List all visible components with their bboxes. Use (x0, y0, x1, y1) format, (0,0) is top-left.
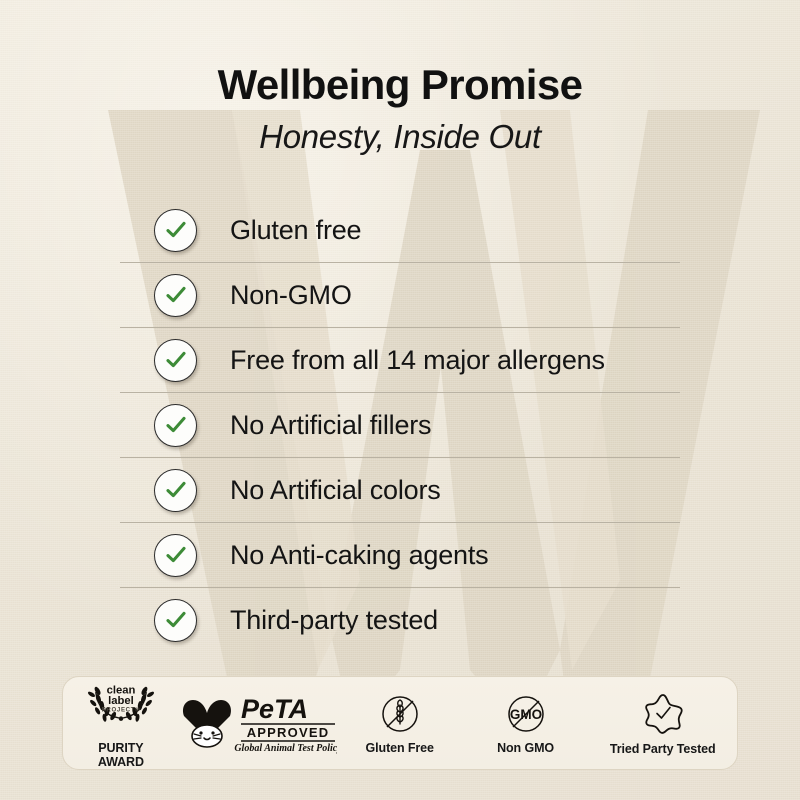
list-item-label: Non-GMO (230, 280, 352, 311)
non-gmo-caption: Non GMO (497, 741, 554, 755)
list-item-label: No Anti-caking agents (230, 540, 488, 571)
certification-badge-bar: clean label PROJECT® PURITY AWARD (62, 676, 738, 770)
page-subtitle: Honesty, Inside Out (0, 118, 800, 156)
gluten-free-caption: Gluten Free (366, 741, 434, 755)
list-item: No Artificial fillers (120, 392, 680, 457)
peta-policy: Global Animal Test Policy (234, 743, 337, 754)
peta-approved: APPROVED (247, 725, 330, 740)
list-item: No Artificial colors (120, 457, 680, 522)
check-circle-icon (154, 469, 197, 512)
badge-tried-party-tested: Tried Party Tested (589, 677, 738, 769)
badge-clean-label-project: clean label PROJECT® PURITY AWARD (63, 677, 179, 769)
crossed-gmo-icon: GMO (504, 692, 548, 736)
list-item: No Anti-caking agents (120, 522, 680, 587)
list-item-label: Gluten free (230, 215, 361, 246)
clean-label-line2: label (108, 695, 134, 707)
promise-card: Wellbeing Promise Honesty, Inside Out Gl… (0, 0, 800, 800)
badge-gluten-free: Gluten Free (337, 677, 463, 769)
star-check-icon (639, 691, 687, 737)
check-circle-icon (154, 534, 197, 577)
laurel-wreath-icon: clean label PROJECT® (78, 677, 164, 736)
check-circle-icon (154, 599, 197, 642)
page-title: Wellbeing Promise (0, 62, 800, 108)
list-item-label: No Artificial fillers (230, 410, 431, 441)
promise-checklist: Gluten free Non-GMO Free from all 14 maj… (120, 198, 680, 652)
clean-label-line3: PROJECT® (102, 707, 141, 714)
clean-label-caption-line2: AWARD (98, 755, 144, 769)
crossed-wheat-icon (378, 692, 422, 736)
list-item-label: Free from all 14 major allergens (230, 345, 605, 376)
check-circle-icon (154, 274, 197, 317)
clean-label-caption-line1: PURITY (98, 741, 143, 755)
peta-wordmark: PeTA (241, 694, 308, 724)
list-item-label: No Artificial colors (230, 475, 441, 506)
check-circle-icon (154, 209, 197, 252)
list-item: Third-party tested (120, 587, 680, 652)
badge-peta-approved: PeTA APPROVED Global Animal Test Policy (179, 677, 337, 769)
list-item: Non-GMO (120, 262, 680, 327)
badge-non-gmo: GMO Non GMO (463, 677, 589, 769)
check-circle-icon (154, 339, 197, 382)
peta-bunny-icon (183, 700, 231, 747)
list-item: Free from all 14 major allergens (120, 327, 680, 392)
check-circle-icon (154, 404, 197, 447)
list-item: Gluten free (120, 198, 680, 262)
tried-party-tested-caption: Tried Party Tested (610, 742, 716, 756)
list-item-label: Third-party tested (230, 605, 438, 636)
